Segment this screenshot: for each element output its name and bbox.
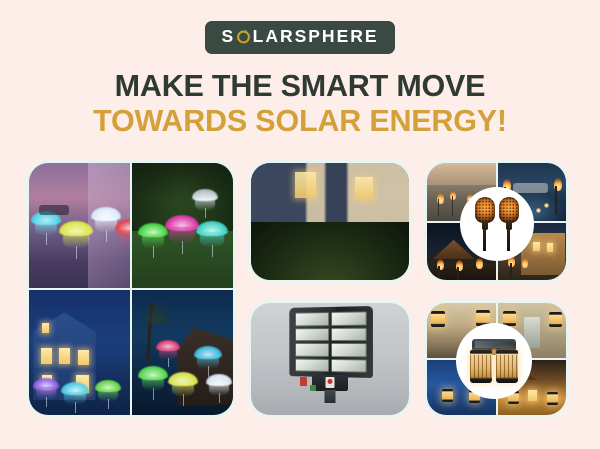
gallery-column-right xyxy=(424,160,569,418)
logo-text-part1: S xyxy=(221,28,235,46)
lamp-right-part xyxy=(496,350,518,383)
wall-lamp-collage-panel[interactable] xyxy=(424,300,569,418)
street-light-product-panel[interactable] xyxy=(248,300,412,418)
headline-line-2: TOWARDS SOLAR ENERGY! xyxy=(0,105,600,137)
firefly-lights-panel[interactable] xyxy=(248,160,412,283)
torch-lights-collage-panel[interactable] xyxy=(424,160,569,283)
logo-text-part2: LARSPHERE xyxy=(253,28,379,46)
left-collage-grid xyxy=(29,163,233,415)
lamp-left-part xyxy=(470,350,492,383)
logo-text: SLARSPHERE xyxy=(221,28,378,46)
logo-badge[interactable]: SLARSPHERE xyxy=(205,21,394,54)
headline: MAKE THE SMART MOVE TOWARDS SOLAR ENERGY… xyxy=(0,70,600,138)
image-gallery xyxy=(26,160,574,418)
firefly-lights-grid xyxy=(251,163,409,280)
gallery-column-left xyxy=(26,160,236,418)
flame-torch-product-overlay[interactable] xyxy=(460,187,534,261)
left-collage-panel[interactable] xyxy=(26,160,236,418)
cell-blue-house-jellyfish-lights[interactable] xyxy=(29,290,130,415)
cell-resort-palm-jellyfish-lights[interactable] xyxy=(132,290,233,415)
solar-wall-lamp-icon xyxy=(469,339,519,383)
solar-street-light-icon xyxy=(288,307,372,403)
solar-wall-lamp-product-overlay[interactable] xyxy=(456,323,532,399)
flame-torch-icon-left xyxy=(475,197,495,251)
brand-header: SLARSPHERE xyxy=(0,0,600,54)
leaf-circle-icon xyxy=(236,29,251,44)
cell-modern-house-firefly-lights[interactable] xyxy=(251,163,409,280)
flame-torch-icon-right xyxy=(499,197,519,251)
cell-beach-patio-jellyfish-lights[interactable] xyxy=(29,163,130,288)
street-light-product-grid xyxy=(251,303,409,415)
cell-solar-street-light-product[interactable] xyxy=(251,303,409,415)
headline-line-1: MAKE THE SMART MOVE xyxy=(0,70,600,102)
gallery-column-middle xyxy=(248,160,412,418)
cell-garden-lawn-jellyfish-lights[interactable] xyxy=(132,163,233,288)
